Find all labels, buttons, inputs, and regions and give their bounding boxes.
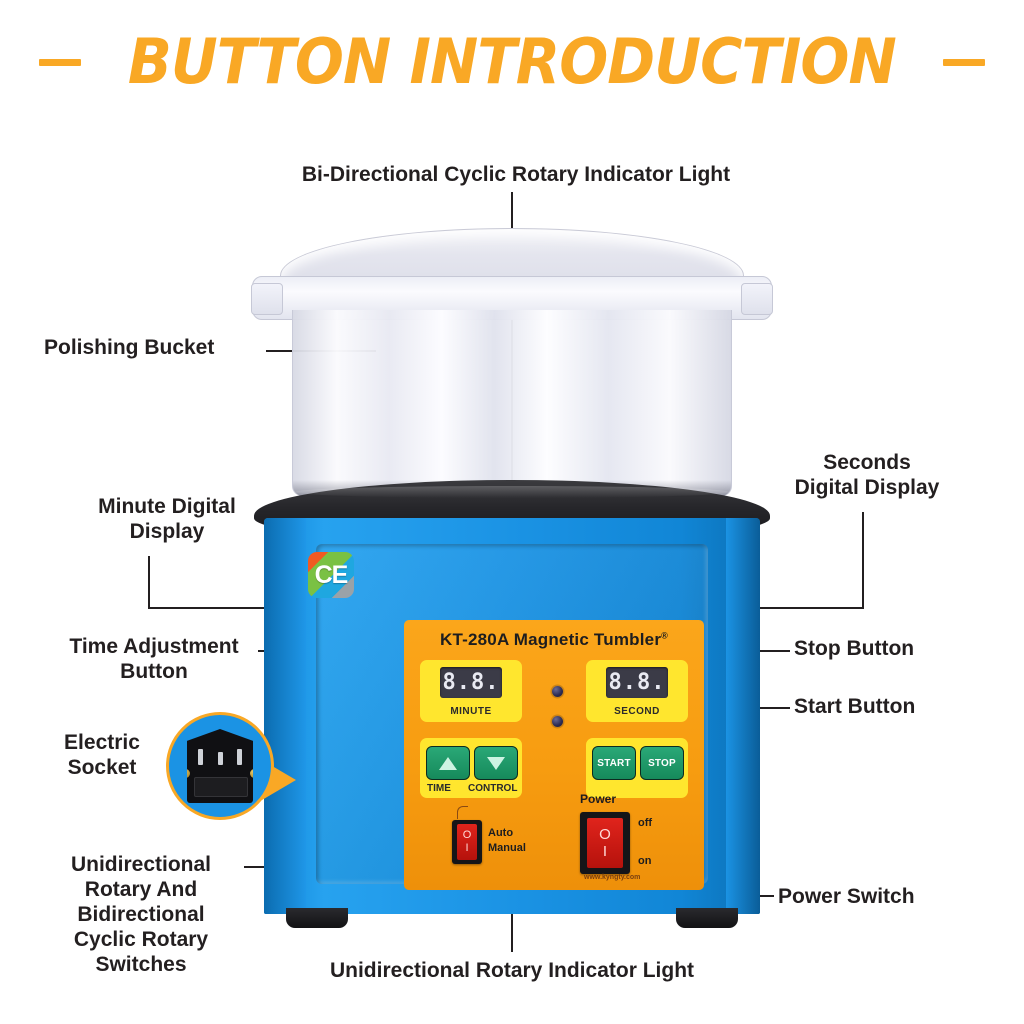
machine-body-right-edge bbox=[726, 518, 760, 914]
power-label-off: off bbox=[638, 816, 652, 831]
leader-minute-display-v bbox=[148, 556, 150, 608]
stop-button[interactable]: STOP bbox=[640, 746, 684, 780]
socket-pins bbox=[198, 749, 242, 769]
mode-switch-symbol-off: O bbox=[463, 829, 472, 842]
socket-screw-right bbox=[250, 769, 259, 778]
iec-power-inlet-icon bbox=[187, 729, 253, 803]
bidirectional-indicator-light bbox=[552, 686, 563, 697]
diagram-canvas: BUTTON INTRODUCTION Bi-Directional Cycli… bbox=[0, 0, 1024, 1024]
minute-caption: MINUTE bbox=[420, 706, 522, 717]
page-title: BUTTON INTRODUCTION bbox=[0, 26, 1024, 98]
deck-highlight bbox=[295, 486, 728, 498]
callout-rotary-switches: Unidirectional Rotary And Bidirectional … bbox=[30, 852, 252, 977]
action-buttons-panel: START STOP bbox=[586, 738, 688, 798]
minute-display-panel: 8.8. MINUTE bbox=[420, 660, 522, 722]
socket-pin-right bbox=[237, 749, 242, 765]
second-led-value: 8.8. bbox=[609, 672, 666, 694]
machine-body-left-edge bbox=[264, 518, 306, 914]
minute-led-value: 8.8. bbox=[443, 672, 500, 694]
second-caption: SECOND bbox=[586, 706, 688, 717]
panel-model-text: KT-280A Magnetic Tumbler bbox=[440, 630, 661, 649]
time-caption-left: TIME bbox=[427, 783, 451, 794]
machine-foot-left bbox=[286, 908, 348, 928]
control-panel: KT-280A Magnetic Tumbler® 8.8. MINUTE 8.… bbox=[404, 620, 704, 890]
unidirectional-indicator-light bbox=[552, 716, 563, 727]
mode-switch-symbol-on: I bbox=[465, 842, 468, 855]
electric-socket-magnifier bbox=[166, 712, 274, 820]
mode-switch-marker-icon bbox=[457, 806, 468, 819]
time-control-panel: TIME CONTROL bbox=[420, 738, 522, 798]
panel-model-title: KT-280A Magnetic Tumbler® bbox=[404, 630, 704, 650]
socket-pin-left bbox=[198, 749, 203, 765]
title-dash-left bbox=[39, 59, 81, 66]
power-switch-face: O I bbox=[587, 818, 623, 868]
socket-lower-slot bbox=[194, 777, 248, 797]
power-symbol-on: I bbox=[603, 843, 607, 860]
manufacturer-url: www.kyngty.com bbox=[584, 874, 640, 881]
power-switch[interactable]: O I bbox=[580, 812, 630, 874]
triangle-down-icon bbox=[487, 757, 505, 770]
mode-label-auto: Auto bbox=[488, 826, 526, 841]
socket-pin-earth bbox=[218, 752, 223, 765]
mode-label-manual: Manual bbox=[488, 841, 526, 856]
callout-power-switch: Power Switch bbox=[778, 884, 1008, 909]
callout-stop-button: Stop Button bbox=[794, 636, 1014, 661]
title-dash-right bbox=[943, 59, 985, 66]
mode-switch[interactable]: O I bbox=[452, 820, 482, 864]
mode-switch-face: O I bbox=[457, 824, 477, 860]
registered-mark: ® bbox=[661, 630, 668, 640]
polishing-bucket-body bbox=[292, 310, 732, 496]
time-decrease-button[interactable] bbox=[474, 746, 518, 780]
start-button[interactable]: START bbox=[592, 746, 636, 780]
minute-led-screen: 8.8. bbox=[440, 667, 502, 698]
title-text: BUTTON INTRODUCTION bbox=[128, 31, 896, 93]
power-symbol-off: O bbox=[599, 826, 611, 843]
time-caption-right: CONTROL bbox=[468, 783, 517, 794]
socket-screw-left bbox=[181, 769, 190, 778]
triangle-up-icon bbox=[439, 757, 457, 770]
leader-seconds-display-v bbox=[862, 512, 864, 608]
callout-electric-socket: Electric Socket bbox=[36, 730, 168, 780]
machine-body: CE KT-280A Magnetic Tumbler® 8.8. MINUTE… bbox=[264, 518, 760, 914]
callout-bidirectional-indicator: Bi-Directional Cyclic Rotary Indicator L… bbox=[240, 162, 792, 187]
power-label-on: on bbox=[638, 854, 651, 869]
ce-badge: CE bbox=[308, 552, 354, 598]
second-led-screen: 8.8. bbox=[606, 667, 668, 698]
machine-foot-right bbox=[676, 908, 738, 928]
callout-start-button: Start Button bbox=[794, 694, 1014, 719]
second-display-panel: 8.8. SECOND bbox=[586, 660, 688, 722]
mode-switch-labels: Auto Manual bbox=[488, 826, 526, 856]
product-illustration: CE KT-280A Magnetic Tumbler® 8.8. MINUTE… bbox=[232, 218, 792, 938]
time-increase-button[interactable] bbox=[426, 746, 470, 780]
power-switch-title: Power bbox=[580, 792, 616, 807]
callout-unidirectional-indicator: Unidirectional Rotary Indicator Light bbox=[236, 958, 788, 983]
